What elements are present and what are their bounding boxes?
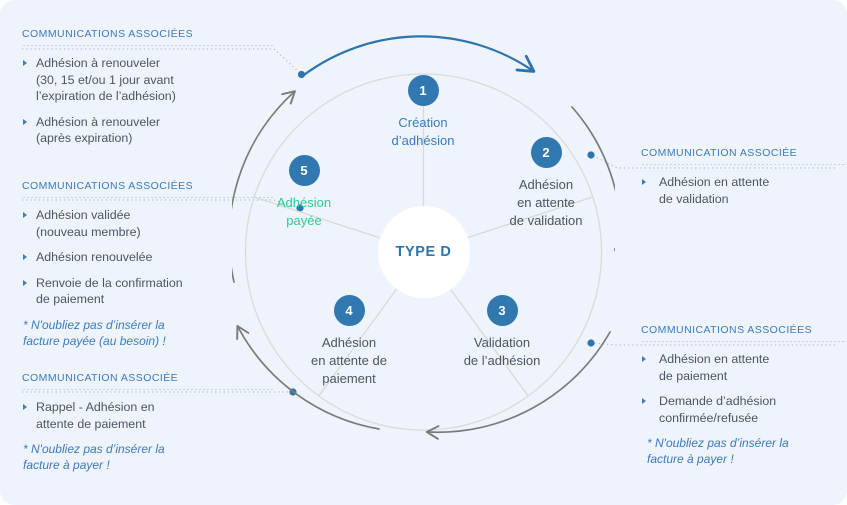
list-item: Adhésion en attentede validation xyxy=(641,174,847,207)
hub-label: TYPE D xyxy=(396,244,452,260)
cycle-wheel: TYPE D 1 Créationd’adhésion 2 Adhésionen… xyxy=(232,32,615,472)
step-badge: 5 xyxy=(289,155,320,186)
panel-title: COMMUNICATIONS ASSOCIÉES xyxy=(641,324,847,336)
step-label: Adhésionen attente depaiement xyxy=(274,334,424,388)
step-label: Validationde l’adhésion xyxy=(427,334,577,370)
panel-items: Adhésion en attentede paiement Demande d… xyxy=(641,351,847,426)
step-badge: 3 xyxy=(487,295,518,326)
step-node-5[interactable]: 5 Adhésionpayée xyxy=(229,155,379,230)
list-item: Adhésion en attentede paiement xyxy=(641,351,847,384)
list-item: Demande d’adhésionconfirmée/refusée xyxy=(641,393,847,426)
step-node-4[interactable]: 4 Adhésionen attente depaiement xyxy=(274,295,424,388)
panel-divider xyxy=(641,341,847,342)
step-node-2[interactable]: 2 Adhésionen attentede validation xyxy=(471,137,621,230)
panel-right-2: COMMUNICATIONS ASSOCIÉES Adhésion en att… xyxy=(641,324,847,467)
step-label: Adhésionen attentede validation xyxy=(471,176,621,230)
panel-items: Adhésion en attentede validation xyxy=(641,174,847,207)
step-label: Adhésionpayée xyxy=(229,194,379,230)
step-badge: 4 xyxy=(334,295,365,326)
diagram-canvas: COMMUNICATIONS ASSOCIÉES Adhésion à reno… xyxy=(0,0,847,505)
panel-note: * N'oubliez pas d’insérer la facture à p… xyxy=(641,435,847,467)
step-node-3[interactable]: 3 Validationde l’adhésion xyxy=(427,295,577,370)
panel-divider xyxy=(641,164,847,165)
arrow-step1-to-step2 xyxy=(305,36,533,74)
panel-title: COMMUNICATION ASSOCIÉE xyxy=(641,147,847,159)
panel-right-1: COMMUNICATION ASSOCIÉE Adhésion en atten… xyxy=(641,147,847,216)
step-badge: 1 xyxy=(408,75,439,106)
wheel-hub: TYPE D xyxy=(378,206,470,298)
step-badge: 2 xyxy=(531,137,562,168)
